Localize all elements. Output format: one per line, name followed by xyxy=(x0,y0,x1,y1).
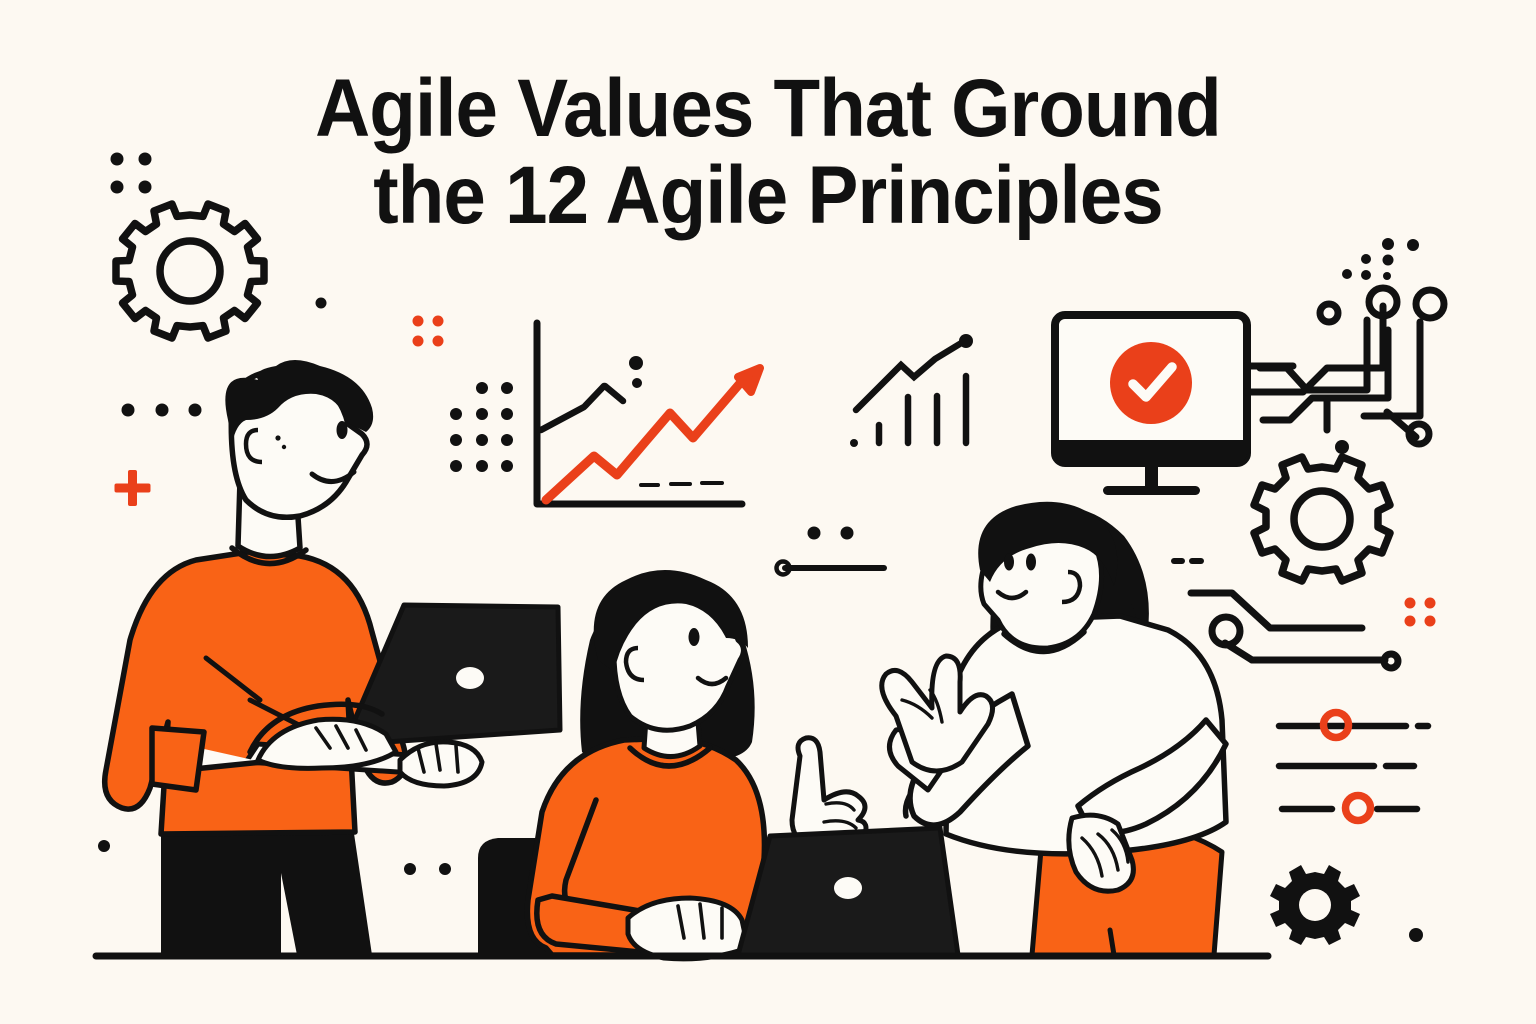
monitor-bezel-bottom xyxy=(1055,440,1247,463)
scatter-dot xyxy=(1409,928,1423,942)
scatter-dot xyxy=(98,840,110,852)
chart-dot xyxy=(629,356,643,370)
man-supporting-hand xyxy=(400,742,482,786)
chart-dashed-baseline xyxy=(641,483,722,485)
woman2-typing-hand xyxy=(628,898,748,959)
illustration-canvas: Agile Values That Ground the 12 Agile Pr… xyxy=(0,0,1536,1024)
bar-chart-origin-dot xyxy=(850,439,858,447)
man-trousers xyxy=(161,820,372,955)
man-freckle xyxy=(275,435,280,440)
bar-chart-endpoint xyxy=(959,334,973,348)
man-cuff-left xyxy=(152,728,204,790)
scatter-dot xyxy=(1335,440,1349,454)
chart-dot xyxy=(632,378,642,388)
agile-illustration xyxy=(0,0,1536,1024)
scatter-dot xyxy=(439,863,451,875)
status-badge xyxy=(1110,342,1192,424)
woman3-eye xyxy=(1004,554,1014,571)
woman3-eye xyxy=(1026,554,1036,571)
monitor-stand-base xyxy=(1103,486,1200,495)
woman2-laptop-logo xyxy=(834,877,862,899)
scatter-dot xyxy=(404,863,416,875)
monitor-stand-neck xyxy=(1145,462,1158,488)
scatter-dot xyxy=(316,298,327,309)
man-eye xyxy=(337,421,348,439)
man-freckle xyxy=(282,445,286,449)
man-laptop-logo xyxy=(456,667,484,689)
woman2-eye xyxy=(689,628,700,646)
